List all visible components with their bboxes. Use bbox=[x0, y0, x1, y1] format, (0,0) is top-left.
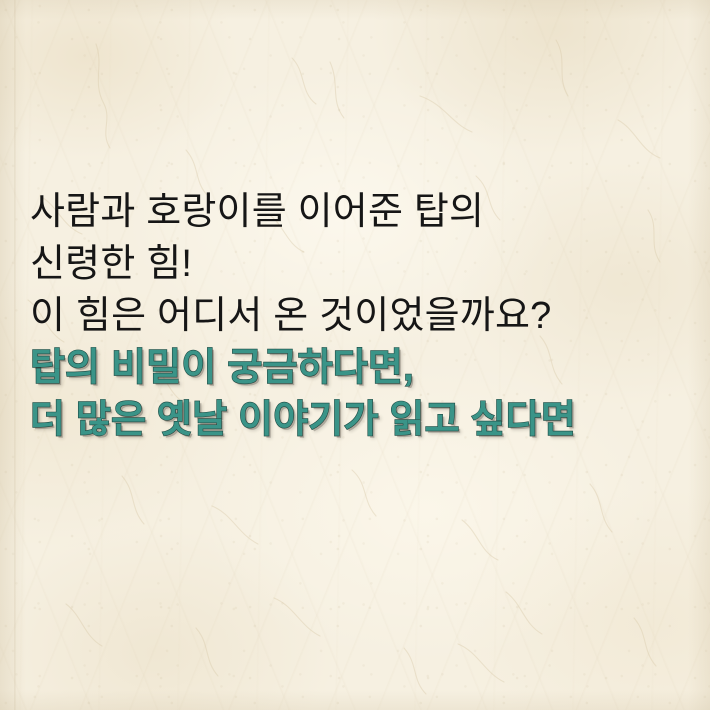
body-line-2: 신령한 힘! bbox=[30, 238, 690, 290]
body-line-1: 사람과 호랑이를 이어준 탑의 bbox=[30, 186, 690, 238]
card-text-block: 사람과 호랑이를 이어준 탑의 신령한 힘! 이 힘은 어디서 온 것이었을까요… bbox=[30, 186, 690, 446]
accent-line-1: 탑의 비밀이 궁금하다면, bbox=[30, 342, 690, 394]
body-line-3: 이 힘은 어디서 온 것이었을까요? bbox=[30, 290, 690, 342]
story-card: 사람과 호랑이를 이어준 탑의 신령한 힘! 이 힘은 어디서 온 것이었을까요… bbox=[0, 0, 710, 710]
accent-line-2: 더 많은 옛날 이야기가 읽고 싶다면 bbox=[30, 394, 690, 446]
paper-left-seam bbox=[14, 0, 16, 710]
